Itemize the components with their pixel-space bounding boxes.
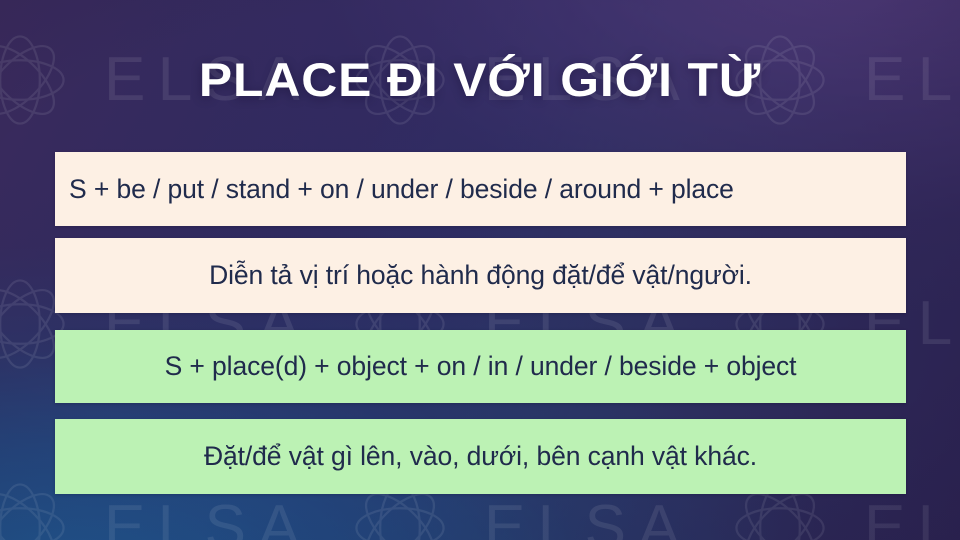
formula-text: S + place(d) + object + on / in / under … [165,351,797,381]
slide-canvas: ELSA ELSA [0,0,960,540]
meaning-box-position: Diễn tả vị trí hoặc hành động đặt/để vật… [55,238,906,313]
formula-text: S + be / put / stand + on / under / besi… [69,174,734,204]
meaning-text: Diễn tả vị trí hoặc hành động đặt/để vật… [209,260,752,290]
formula-box-be-put-stand: S + be / put / stand + on / under / besi… [55,152,906,226]
meaning-text: Đặt/để vật gì lên, vào, dưới, bên cạnh v… [204,441,757,471]
formula-box-place-d: S + place(d) + object + on / in / under … [55,330,906,403]
page-title: PLACE ĐI VỚI GIỚI TỪ [0,56,960,103]
meaning-box-put-object: Đặt/để vật gì lên, vào, dưới, bên cạnh v… [55,419,906,494]
